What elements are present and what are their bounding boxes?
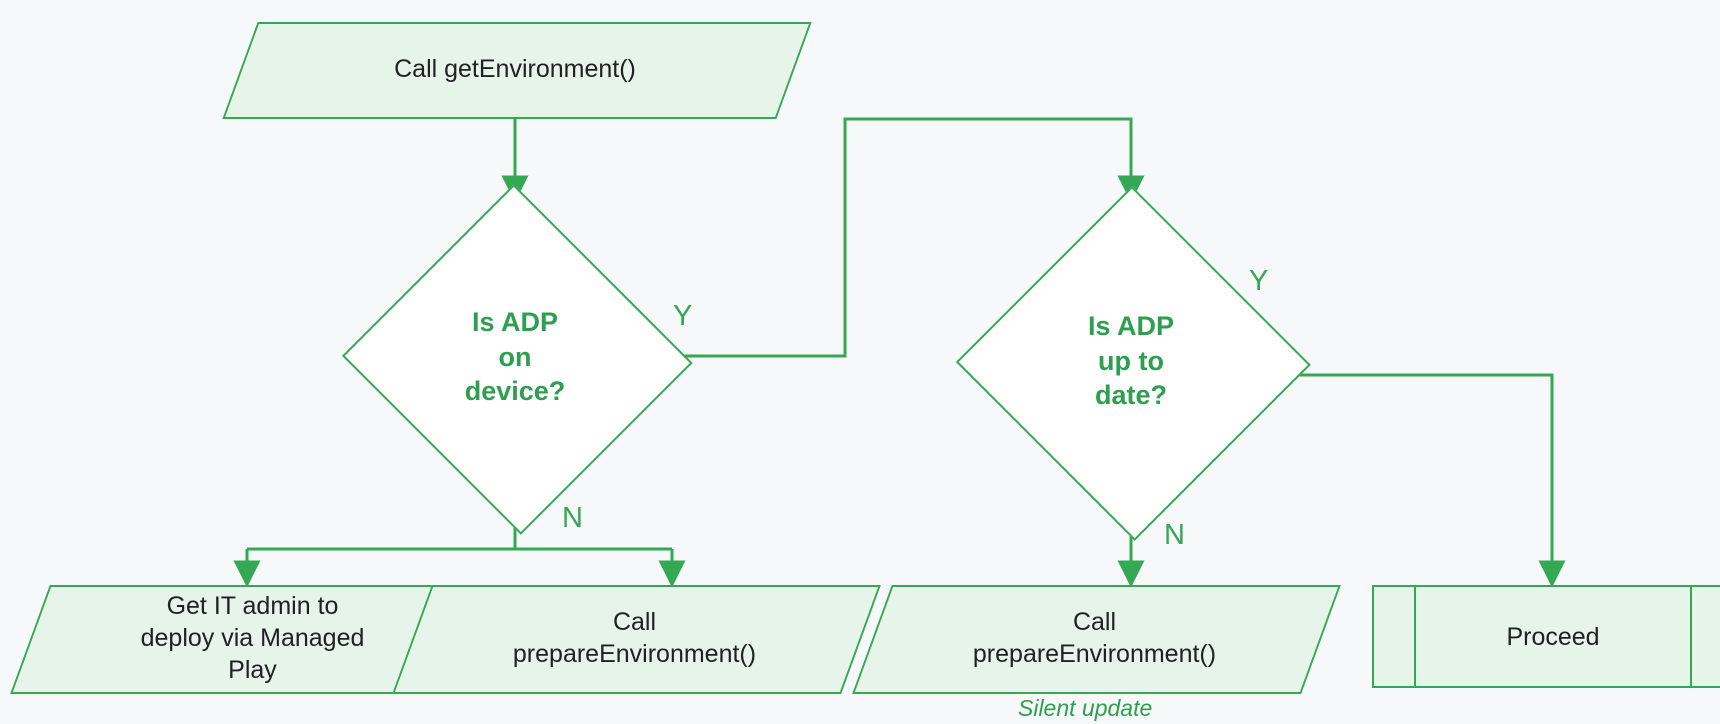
node-call-getenvironment[interactable]: Call getEnvironment() [240,22,790,115]
node-proceed[interactable]: Proceed [1372,585,1720,688]
caption-silent-update: Silent update [1018,695,1152,722]
node-is-adp-up-to-date[interactable]: Is ADP up to date? [965,198,1297,524]
predefined-process-left-bar [1414,585,1416,688]
node-label: Get IT admin to deploy via Managed Play [141,590,365,686]
predefined-process-right-bar [1690,585,1692,688]
node-label: Call prepareEnvironment() [973,606,1216,670]
node-label: Call prepareEnvironment() [513,606,756,670]
node-label: Is ADP up to date? [1088,309,1174,413]
flowchart-canvas: Call getEnvironment() Is ADP on device? … [0,0,1720,724]
edge-label-uptodate-no: N [1164,519,1185,552]
node-call-prepareenvironment-left[interactable]: Call prepareEnvironment() [412,585,857,690]
node-label: Is ADP on device? [465,305,566,409]
edge-label-device-yes: Y [673,300,692,333]
node-label: Call getEnvironment() [394,53,636,85]
edge-label-device-no: N [562,502,583,535]
node-label: Proceed [1506,621,1599,653]
node-is-adp-on-device[interactable]: Is ADP on device? [349,198,681,516]
edge-label-uptodate-yes: Y [1249,265,1268,298]
edge-uptodate-yes-to-proceed [1281,375,1552,583]
node-call-prepareenvironment-right[interactable]: Call prepareEnvironment() [872,585,1317,690]
